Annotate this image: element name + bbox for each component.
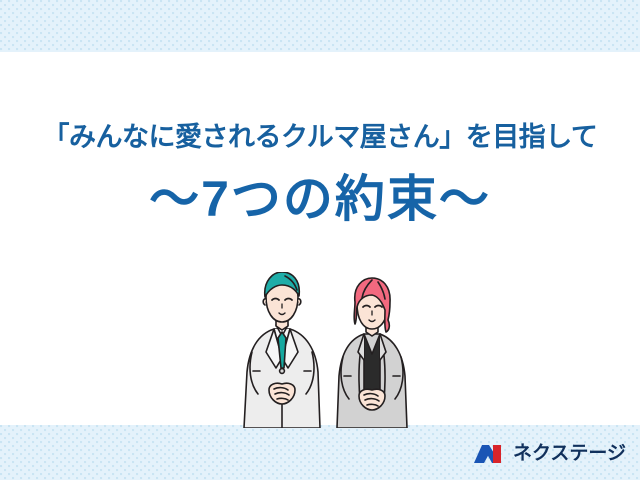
staff-illustration-svg (236, 272, 416, 428)
nextage-logo: ネクステージ (473, 440, 626, 468)
headline-block: 「みんなに愛されるクルマ屋さん」を目指して 〜7つの約束〜 (0, 118, 640, 228)
staff-illustration (236, 272, 416, 428)
female-staff-figure (337, 278, 407, 428)
nextage-logo-text: ネクステージ (513, 442, 626, 466)
nextage-n-mark-icon (473, 442, 507, 466)
headline-line-2: 〜7つの約束〜 (0, 170, 640, 228)
male-staff-figure (244, 272, 320, 428)
top-dot-band (0, 0, 640, 52)
headline-line-1: 「みんなに愛されるクルマ屋さん」を目指して (0, 118, 640, 156)
banner-canvas: 「みんなに愛されるクルマ屋さん」を目指して 〜7つの約束〜 (0, 0, 640, 480)
